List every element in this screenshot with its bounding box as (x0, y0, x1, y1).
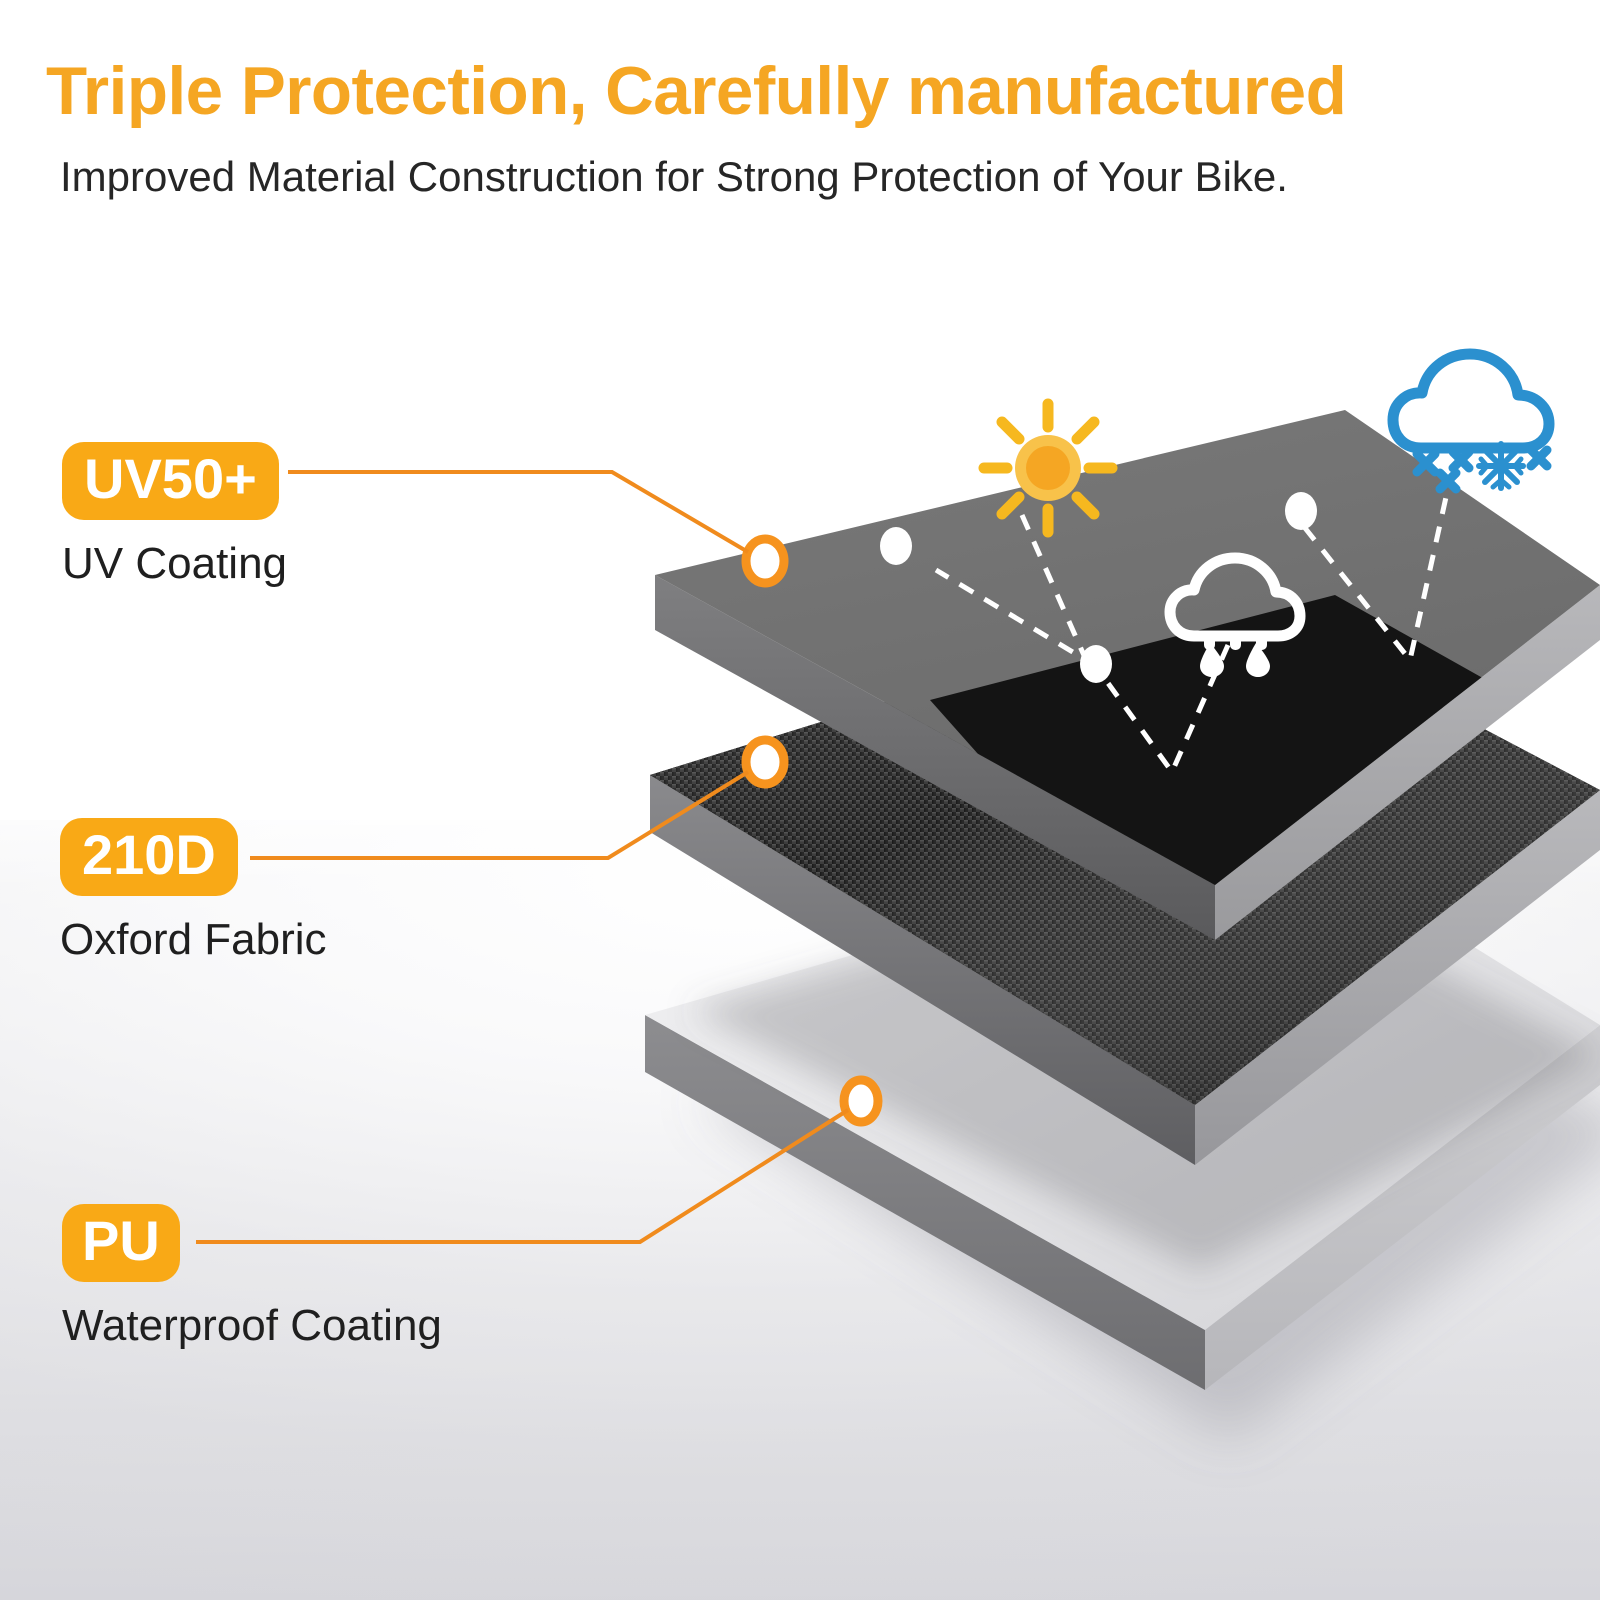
caption-uv: UV Coating (62, 538, 287, 590)
label-group-oxford: 210D Oxford Fabric (60, 818, 327, 966)
rain-cloud-outline (1170, 558, 1300, 636)
layer-stack-illustration (0, 0, 1600, 1600)
sun-inner-disc (1026, 446, 1070, 490)
infographic-canvas: Triple Protection, Carefully manufacture… (0, 0, 1600, 1600)
caption-pu: Waterproof Coating (62, 1300, 442, 1352)
label-group-uv: UV50+ UV Coating (62, 442, 287, 590)
layer-marker-dot-uv (746, 539, 784, 583)
label-group-pu: PU Waterproof Coating (62, 1204, 442, 1352)
badge-uv: UV50+ (62, 442, 279, 520)
badge-pu: PU (62, 1204, 180, 1282)
caption-oxford: Oxford Fabric (60, 914, 327, 966)
badge-oxford: 210D (60, 818, 238, 896)
layer-marker-dot-oxford (746, 740, 784, 784)
ray-dot-sun-out (880, 527, 912, 565)
layer-marker-dot-pu (844, 1080, 878, 1122)
sun-icon (978, 398, 1118, 538)
snowflake-large (1479, 444, 1523, 488)
rain-cloud-icon (1160, 548, 1310, 678)
snow-cloud-outline (1393, 354, 1549, 448)
ray-dot-rain-out (1080, 645, 1112, 683)
ray-dot-snow-out (1285, 492, 1317, 530)
snow-cloud-icon (1383, 340, 1563, 490)
